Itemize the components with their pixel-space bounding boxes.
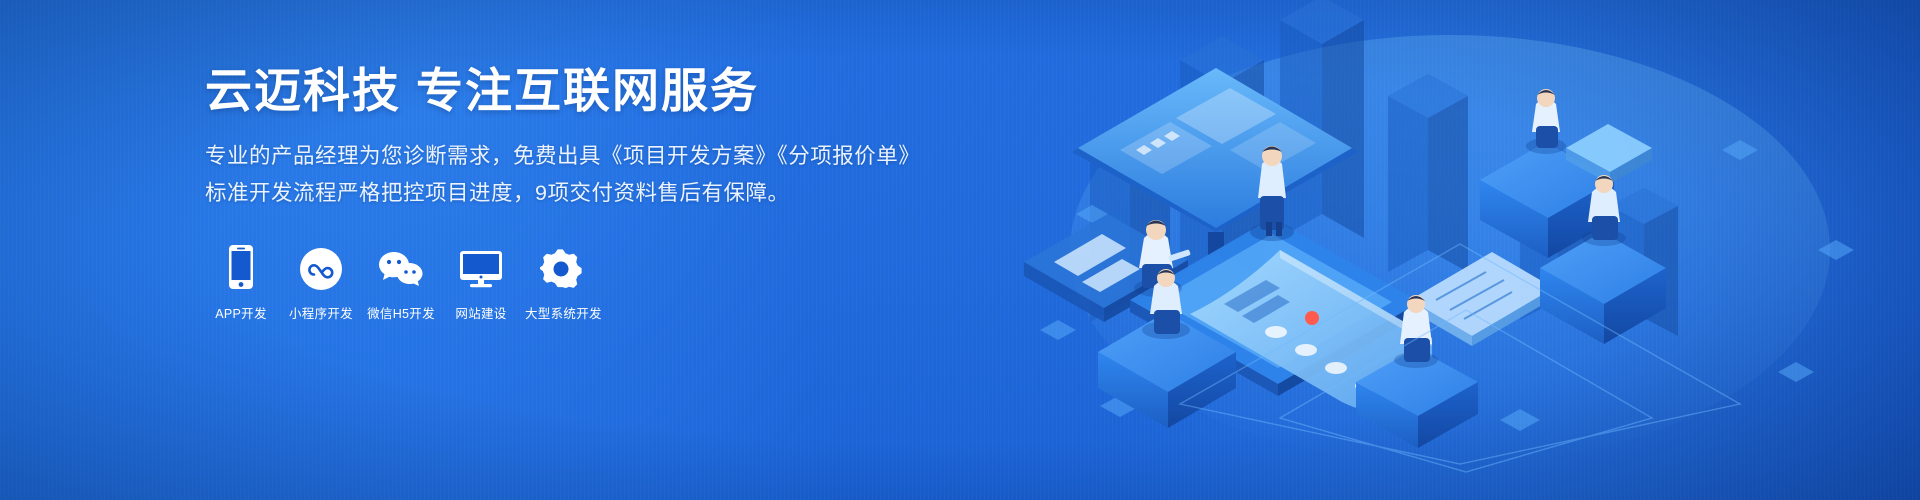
page-title: 云迈科技 专注互联网服务	[205, 62, 905, 121]
service-item-website[interactable]: 网站建设	[445, 244, 517, 322]
monitor-icon	[445, 244, 517, 290]
hero-content: 云迈科技 专注互联网服务 专业的产品经理为您诊断需求，免费出具《项目开发方案》《…	[205, 62, 905, 322]
service-item-miniprogram[interactable]: 小程序开发	[285, 244, 357, 322]
service-label: APP开发	[205, 303, 277, 322]
hero-illustration	[980, 0, 1920, 500]
service-item-app[interactable]: APP开发	[205, 244, 277, 322]
subtitle-line-1: 专业的产品经理为您诊断需求，免费出具《项目开发方案》《分项报价单》	[205, 138, 905, 175]
service-label: 网站建设	[445, 303, 517, 322]
service-label: 微信H5开发	[365, 303, 437, 322]
service-label: 大型系统开发	[525, 303, 597, 322]
service-item-wechat[interactable]: 微信H5开发	[365, 244, 437, 322]
service-label: 小程序开发	[285, 303, 357, 322]
hero-banner: 云迈科技 专注互联网服务 专业的产品经理为您诊断需求，免费出具《项目开发方案》《…	[0, 0, 1920, 500]
subtitle-block: 专业的产品经理为您诊断需求，免费出具《项目开发方案》《分项报价单》 标准开发流程…	[205, 138, 905, 212]
mini-program-icon	[285, 244, 357, 290]
subtitle-line-2: 标准开发流程严格把控项目进度，9项交付资料售后有保障。	[205, 175, 905, 212]
mobile-phone-icon	[205, 244, 277, 290]
service-list: APP开发 小程序开发	[205, 244, 905, 322]
service-item-system[interactable]: 大型系统开发	[525, 244, 597, 322]
gear-icon	[525, 244, 597, 290]
wechat-icon	[365, 244, 437, 290]
